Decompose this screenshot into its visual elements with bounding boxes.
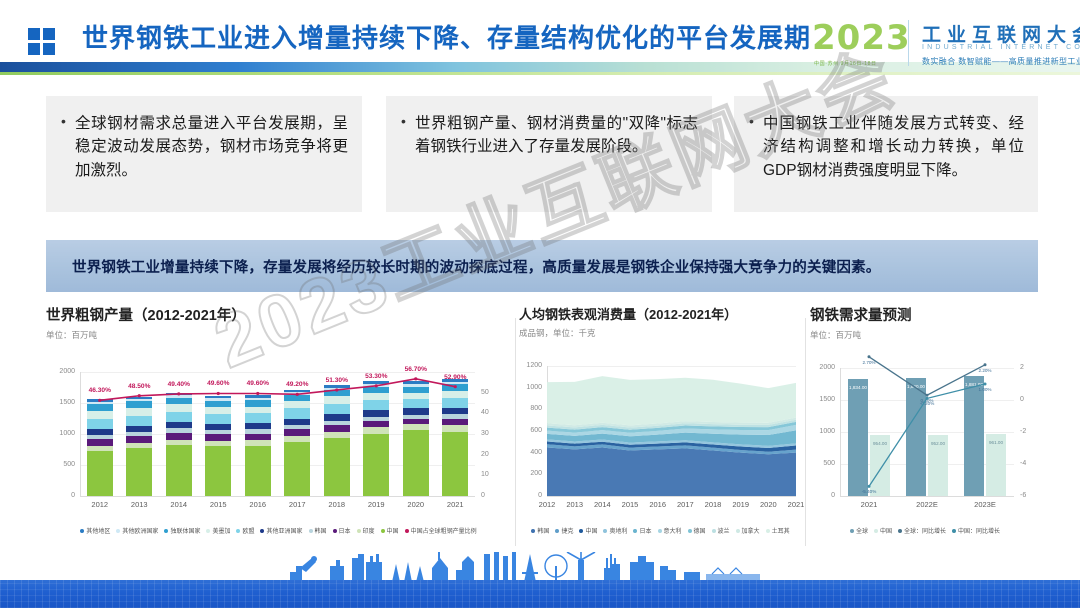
x-axis-tick: 2012 [533,500,561,509]
legend-swatch [309,529,313,533]
x-axis-tick: 2020 [754,500,782,509]
legend-item: 全球 [850,526,868,535]
legend-label: 日本 [339,526,351,535]
x-axis-tick: 2016 [644,500,672,509]
legend-label: 韩国 [537,526,549,535]
legend-swatch [766,529,770,533]
legend-swatch [381,529,385,533]
legend-swatch [688,529,692,533]
page-title: 世界钢铁工业进入增量持续下降、存量结构优化的平台发展期 [82,18,811,55]
legend-item: 加拿大 [736,526,760,535]
chart-title: 人均钢铁表观消费量（2012-2021年） [519,304,802,323]
chart-panel-demand-forecast: 钢铁需求量预测 单位：百万吨 0500100015002000-6-4-2021… [810,304,1040,556]
data-label: 51.30% [321,377,353,384]
panel-divider [805,318,806,546]
legend-label: 土耳其 [772,526,790,535]
legend-swatch [333,529,337,533]
legend-swatch [116,529,120,533]
legend-swatch [260,529,264,533]
summary-card: 全球钢材需求总量进入平台发展期，呈稳定波动发展态势，钢材市场竞争将更加激烈。 [46,96,362,212]
data-label: 49.60% [242,380,274,387]
x-axis-tick: 2018 [699,500,727,509]
legend-swatch [555,529,559,533]
data-label: 46.30% [84,387,116,394]
legend-item: 土耳其 [766,526,790,535]
growth-lines [810,356,1040,516]
page-footer [0,552,1080,608]
legend-item: 中国 [874,526,892,535]
card-bullet: 全球钢材需求总量进入平台发展期，呈稳定波动发展态势，钢材市场竞争将更加激烈。 [60,112,348,182]
chart-plot-area: 0500100015002000010203040502012201320142… [46,356,511,516]
legend-label: 其他亚洲国家 [266,526,302,535]
panel-divider [515,318,516,546]
legend-item: 其他欧洲国家 [116,526,158,535]
chart-panel-percapita-consumption: 人均钢铁表观消费量（2012-2021年） 成品钢，单位：千克 02004006… [519,304,802,556]
legend-item: 美墨加 [206,526,230,535]
data-label: 49.40% [163,381,195,388]
footer-wave [0,580,1080,608]
legend-label: 韩国 [315,526,327,535]
logo-date: 中国·苏州 9月16日-18日 [814,60,877,67]
legend-item: 日本 [633,526,651,535]
page-header: 世界钢铁工业进入增量持续下降、存量结构优化的平台发展期 2023 中国·苏州 9… [0,0,1080,82]
logo-title-en: INDUSTRIAL INTERNET CONFERENCE [922,44,1080,51]
card-bullet: 中国钢铁工业伴随发展方式转变、经济结构调整和增长动力转换，单位GDP钢材消费强度… [748,112,1024,182]
legend-label: 捷克 [561,526,573,535]
data-label: 56.70% [400,366,432,373]
chart-panel-crude-steel-output: 世界粗钢产量（2012-2021年） 单位：百万吨 05001000150020… [46,304,511,556]
legend-item: 中国占全球粗钢产量比例 [405,526,477,535]
legend-swatch [579,529,583,533]
legend-item: 波兰 [712,526,730,535]
summary-cards: 全球钢材需求总量进入平台发展期，呈稳定波动发展态势，钢材市场竞争将更加激烈。 世… [46,96,1038,212]
data-label: 52.90% [439,374,471,381]
legend-swatch [531,529,535,533]
logo-year: 2023 [812,18,911,58]
x-axis-tick: 2017 [671,500,699,509]
x-axis-tick: 2015 [616,500,644,509]
legend-item: 德国 [688,526,706,535]
legend-item: 韩国 [531,526,549,535]
chart-title: 世界粗钢产量（2012-2021年） [46,304,511,325]
legend-item: 中国：同比增长 [952,526,1000,535]
legend-swatch [357,529,361,533]
card-bullet: 世界粗钢产量、钢材消费量的"双降"标志着钢铁行业进入了存量发展阶段。 [400,112,698,159]
legend-label: 日本 [639,526,651,535]
legend-item: 欧盟 [236,526,254,535]
logo-divider [908,20,909,66]
chart-subtitle: 单位：百万吨 [810,329,1040,341]
legend-item: 其他地区 [80,526,110,535]
legend-label: 独联体国家 [170,526,200,535]
legend-item: 捷克 [555,526,573,535]
legend-swatch [164,529,168,533]
legend-swatch [850,529,854,533]
legend-label: 全球 [856,526,868,535]
legend-swatch [633,529,637,533]
grid-icon [28,28,56,56]
banner-text: 世界钢铁工业增量持续下降，存量发展将经历较长时期的波动探底过程，高质量发展是钢铁… [46,256,881,277]
data-label: 49.60% [202,380,234,387]
legend-swatch [874,529,878,533]
legend-label: 其他欧洲国家 [122,526,158,535]
chart-subtitle: 单位：百万吨 [46,329,511,341]
chart-subtitle: 成品钢，单位：千克 [519,327,802,339]
legend-label: 全球：同比增长 [904,526,946,535]
chart-plot-area: 0200400600800100012002012201320142015201… [519,356,802,516]
legend-item: 中国 [579,526,597,535]
legend-item: 日本 [333,526,351,535]
legend-item: 全球：同比增长 [898,526,946,535]
legend-item: 意大利 [658,526,682,535]
x-axis-tick: 2019 [727,500,755,509]
legend-label: 德国 [694,526,706,535]
stacked-area [519,356,802,516]
data-label: 49.20% [281,381,313,388]
legend-swatch [952,529,956,533]
legend-label: 其他地区 [86,526,110,535]
legend-swatch [603,529,607,533]
legend-label: 中国 [880,526,892,535]
legend-label: 中国：同比增长 [958,526,1000,535]
legend-label: 中国 [387,526,399,535]
legend-swatch [80,529,84,533]
chart-legend: 全球中国全球：同比增长中国：同比增长 [810,526,1040,535]
legend-label: 中国占全球粗钢产量比例 [411,526,477,535]
legend-label: 印度 [363,526,375,535]
legend-swatch [658,529,662,533]
legend-label: 美墨加 [212,526,230,535]
chart-title: 钢铁需求量预测 [810,304,1040,325]
legend-swatch [405,529,409,533]
legend-label: 奥地利 [609,526,627,535]
x-axis-tick: 2013 [561,500,589,509]
legend-item: 中国 [381,526,399,535]
summary-card: 中国钢铁工业伴随发展方式转变、经济结构调整和增长动力转换，单位GDP钢材消费强度… [734,96,1038,212]
summary-card: 世界粗钢产量、钢材消费量的"双降"标志着钢铁行业进入了存量发展阶段。 [386,96,712,212]
legend-swatch [712,529,716,533]
legend-item: 独联体国家 [164,526,200,535]
city-skyline-icon [0,552,1080,582]
legend-label: 波兰 [718,526,730,535]
legend-item: 奥地利 [603,526,627,535]
data-label: 53.30% [360,373,392,380]
legend-swatch [736,529,740,533]
x-axis-tick: 2014 [588,500,616,509]
legend-swatch [898,529,902,533]
legend-label: 欧盟 [242,526,254,535]
logo-subtitle: 数实融合 数智赋能——高质量推进新型工业化 [922,56,1080,67]
chart-legend: 其他地区其他欧洲国家独联体国家美墨加欧盟其他亚洲国家韩国日本印度中国中国占全球粗… [46,526,511,535]
legend-swatch [236,529,240,533]
chart-plot-area: 0500100015002000-6-4-2021,834.00954.0020… [810,356,1040,516]
legend-label: 意大利 [664,526,682,535]
chart-legend: 韩国捷克中国奥地利日本意大利德国波兰加拿大土耳其 [519,526,802,535]
logo-title-cn: 工业互联网大会 [922,20,1080,47]
legend-item: 其他亚洲国家 [260,526,302,535]
legend-label: 中国 [585,526,597,535]
legend-swatch [206,529,210,533]
conference-logo: 2023 中国·苏州 9月16日-18日 工业互联网大会 INDUSTRIAL … [812,16,1072,74]
x-axis-tick: 2021 [782,500,810,509]
highlight-banner: 世界钢铁工业增量持续下降，存量发展将经历较长时期的波动探底过程，高质量发展是钢铁… [46,240,1038,292]
data-label: 48.50% [123,383,155,390]
legend-label: 加拿大 [742,526,760,535]
legend-item: 印度 [357,526,375,535]
legend-item: 韩国 [309,526,327,535]
